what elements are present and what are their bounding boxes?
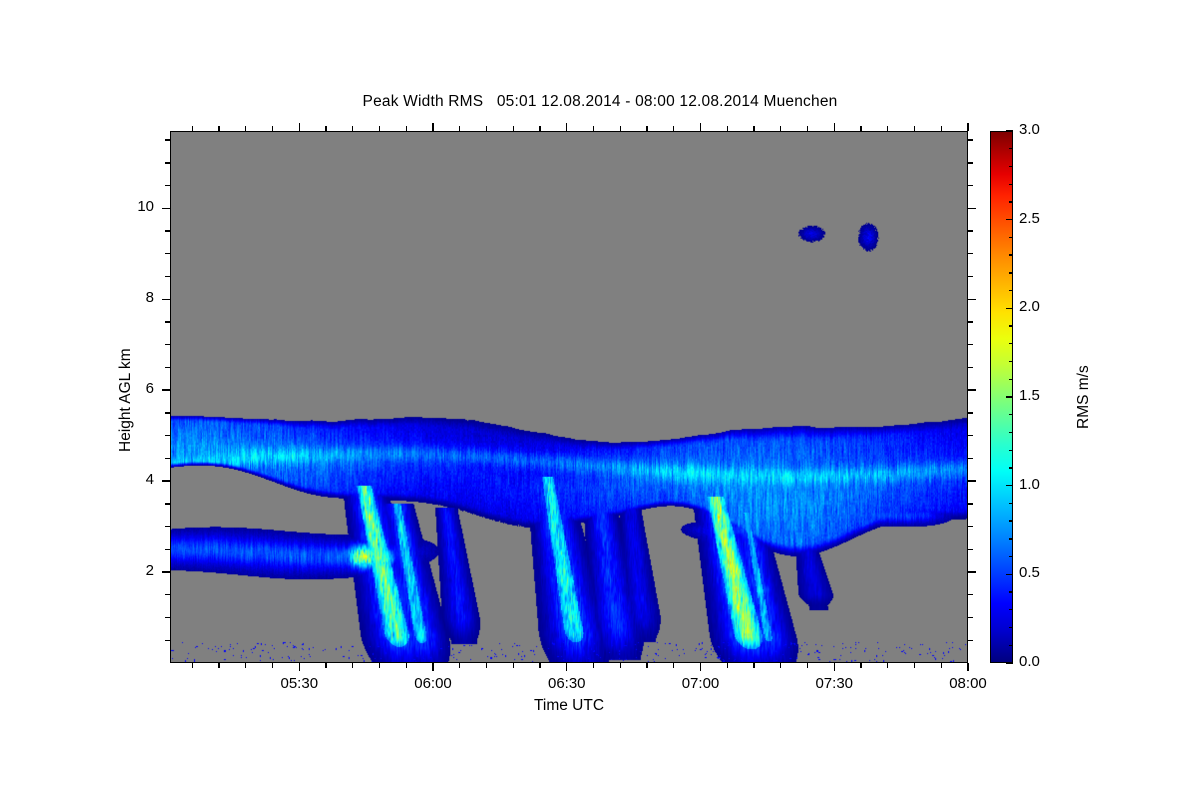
y-tick-major: [162, 480, 170, 481]
y-tick-minor: [165, 367, 170, 368]
x-tick-top-minor: [860, 126, 861, 131]
colorbar-tick-minor: [1009, 325, 1013, 326]
y-tick-right-major: [968, 208, 976, 209]
colorbar-tick-major: [1006, 396, 1013, 397]
y-tick-right-major: [968, 480, 976, 481]
x-tick-minor: [192, 663, 193, 668]
x-tick-minor: [780, 663, 781, 668]
x-tick-top-minor: [941, 126, 942, 131]
x-tick-minor: [646, 663, 647, 668]
colorbar-tick-minor: [1009, 166, 1013, 167]
x-tick-major: [834, 663, 835, 671]
x-tick-minor: [245, 663, 246, 668]
y-tick-right-minor: [968, 367, 973, 368]
x-tick-minor: [406, 663, 407, 668]
colorbar-tick-minor: [1009, 254, 1013, 255]
x-tick-top-minor: [620, 126, 621, 131]
x-tick-minor: [941, 663, 942, 668]
colorbar-tick-minor: [1009, 148, 1013, 149]
colorbar-label: RMS m/s: [1075, 365, 1093, 429]
colorbar-tick-label: 2.0: [1019, 298, 1040, 315]
x-tick-label: 08:00: [923, 675, 1013, 692]
colorbar-tick-minor: [1009, 609, 1013, 610]
x-tick-top-minor: [807, 126, 808, 131]
x-tick-top-major: [967, 123, 968, 131]
x-tick-top-minor: [914, 126, 915, 131]
y-tick-right-minor: [968, 526, 973, 527]
x-tick-minor: [620, 663, 621, 668]
x-tick-minor: [486, 663, 487, 668]
x-tick-minor: [860, 663, 861, 668]
x-tick-minor: [887, 663, 888, 668]
x-tick-top-minor: [325, 126, 326, 131]
y-tick-right-major: [968, 299, 976, 300]
x-tick-minor: [914, 663, 915, 668]
x-tick-top-major: [299, 123, 300, 131]
x-tick-top-minor: [352, 126, 353, 131]
colorbar-tick-minor: [1009, 237, 1013, 238]
y-tick-minor: [165, 435, 170, 436]
y-tick-minor: [165, 549, 170, 550]
y-tick-right-minor: [968, 139, 973, 140]
x-tick-minor: [753, 663, 754, 668]
x-tick-top-minor: [780, 126, 781, 131]
x-tick-top-major: [432, 123, 433, 131]
x-tick-minor: [459, 663, 460, 668]
y-tick-major: [162, 389, 170, 390]
x-tick-top-major: [700, 123, 701, 131]
y-tick-right-minor: [968, 412, 973, 413]
x-tick-label: 07:00: [656, 675, 746, 692]
y-tick-minor: [165, 230, 170, 231]
lidar-rms-figure: Peak Width RMS 05:01 12.08.2014 - 08:00 …: [0, 0, 1200, 800]
x-tick-top-minor: [245, 126, 246, 131]
x-tick-label: 06:30: [522, 675, 612, 692]
colorbar-tick-minor: [1009, 503, 1013, 504]
x-tick-top-minor: [218, 126, 219, 131]
colorbar-tick-major: [1006, 219, 1013, 220]
x-tick-top-minor: [727, 126, 728, 131]
colorbar-tick-minor: [1009, 361, 1013, 362]
x-tick-minor: [539, 663, 540, 668]
colorbar-tick-minor: [1009, 556, 1013, 557]
x-tick-major: [566, 663, 567, 671]
x-tick-top-minor: [486, 126, 487, 131]
colorbar-tick-minor: [1009, 290, 1013, 291]
y-tick-minor: [165, 162, 170, 163]
colorbar-tick-label: 2.5: [1019, 210, 1040, 227]
y-tick-label: 4: [94, 471, 154, 488]
y-tick-minor: [165, 412, 170, 413]
y-tick-minor: [165, 276, 170, 277]
y-tick-minor: [165, 458, 170, 459]
x-tick-minor: [593, 663, 594, 668]
x-tick-top-minor: [646, 126, 647, 131]
colorbar-tick-label: 3.0: [1019, 121, 1040, 138]
y-tick-minor: [165, 253, 170, 254]
y-tick-major: [162, 299, 170, 300]
x-axis-label: Time UTC: [170, 697, 968, 715]
x-tick-top-minor: [887, 126, 888, 131]
colorbar-tick-major: [1006, 130, 1013, 131]
x-tick-top-minor: [513, 126, 514, 131]
y-tick-right-minor: [968, 230, 973, 231]
colorbar-tick-minor: [1009, 201, 1013, 202]
y-tick-right-minor: [968, 162, 973, 163]
x-tick-minor: [379, 663, 380, 668]
y-tick-right-minor: [968, 185, 973, 186]
colorbar-tick-minor: [1009, 272, 1013, 273]
x-tick-label: 06:00: [388, 675, 478, 692]
x-tick-minor: [325, 663, 326, 668]
y-tick-minor: [165, 344, 170, 345]
y-tick-minor: [165, 185, 170, 186]
x-tick-top-minor: [593, 126, 594, 131]
x-tick-top-minor: [406, 126, 407, 131]
x-tick-major: [700, 663, 701, 671]
colorbar-tick-major: [1006, 662, 1013, 663]
x-tick-minor: [352, 663, 353, 668]
colorbar-tick-minor: [1009, 379, 1013, 380]
y-tick-minor: [165, 139, 170, 140]
x-tick-top-minor: [673, 126, 674, 131]
y-tick-minor: [165, 594, 170, 595]
colorbar-tick-major: [1006, 308, 1013, 309]
x-tick-top-minor: [539, 126, 540, 131]
colorbar-tick-minor: [1009, 520, 1013, 521]
x-tick-minor: [513, 663, 514, 668]
y-tick-label: 10: [94, 198, 154, 215]
colorbar-tick-minor: [1009, 184, 1013, 185]
colorbar-tick-label: 0.0: [1019, 653, 1040, 670]
y-tick-right-minor: [968, 640, 973, 641]
heatmap-plot-area: [170, 131, 968, 663]
colorbar-tick-label: 0.5: [1019, 564, 1040, 581]
y-tick-right-minor: [968, 458, 973, 459]
colorbar-tick-minor: [1009, 645, 1013, 646]
x-tick-top-major: [566, 123, 567, 131]
y-tick-right-minor: [968, 594, 973, 595]
y-tick-right-minor: [968, 276, 973, 277]
y-tick-label: 2: [94, 562, 154, 579]
colorbar-tick-minor: [1009, 343, 1013, 344]
y-axis-label: Height AGL km: [117, 348, 135, 452]
x-tick-major: [299, 663, 300, 671]
y-tick-minor: [165, 321, 170, 322]
colorbar-tick-minor: [1009, 467, 1013, 468]
x-tick-label: 05:30: [254, 675, 344, 692]
colorbar-tick-label: 1.0: [1019, 476, 1040, 493]
y-tick-right-major: [968, 389, 976, 390]
x-tick-minor: [807, 663, 808, 668]
x-tick-top-minor: [272, 126, 273, 131]
x-tick-minor: [218, 663, 219, 668]
y-tick-minor: [165, 503, 170, 504]
x-tick-top-minor: [753, 126, 754, 131]
y-tick-right-major: [968, 571, 976, 572]
page-title: Peak Width RMS 05:01 12.08.2014 - 08:00 …: [0, 93, 1200, 111]
colorbar-tick-major: [1006, 574, 1013, 575]
x-tick-minor: [272, 663, 273, 668]
y-tick-label: 8: [94, 289, 154, 306]
x-tick-minor: [673, 663, 674, 668]
y-tick-right-minor: [968, 435, 973, 436]
colorbar-tick-minor: [1009, 538, 1013, 539]
heatmap-canvas: [171, 132, 967, 662]
x-tick-top-major: [834, 123, 835, 131]
colorbar-tick-minor: [1009, 450, 1013, 451]
x-tick-major: [967, 663, 968, 671]
x-tick-major: [432, 663, 433, 671]
y-tick-minor: [165, 640, 170, 641]
x-tick-top-minor: [379, 126, 380, 131]
colorbar-tick-minor: [1009, 414, 1013, 415]
colorbar-tick-label: 1.5: [1019, 387, 1040, 404]
y-tick-minor: [165, 617, 170, 618]
y-tick-right-minor: [968, 253, 973, 254]
y-tick-right-minor: [968, 617, 973, 618]
colorbar-tick-major: [1006, 485, 1013, 486]
y-tick-right-minor: [968, 321, 973, 322]
x-tick-minor: [727, 663, 728, 668]
y-tick-right-minor: [968, 549, 973, 550]
colorbar-tick-minor: [1009, 432, 1013, 433]
colorbar-tick-minor: [1009, 627, 1013, 628]
x-tick-label: 07:30: [789, 675, 879, 692]
y-tick-major: [162, 208, 170, 209]
y-tick-right-minor: [968, 503, 973, 504]
x-tick-top-minor: [459, 126, 460, 131]
y-tick-major: [162, 571, 170, 572]
y-tick-minor: [165, 526, 170, 527]
colorbar-tick-minor: [1009, 591, 1013, 592]
x-tick-top-minor: [192, 126, 193, 131]
y-tick-right-minor: [968, 344, 973, 345]
